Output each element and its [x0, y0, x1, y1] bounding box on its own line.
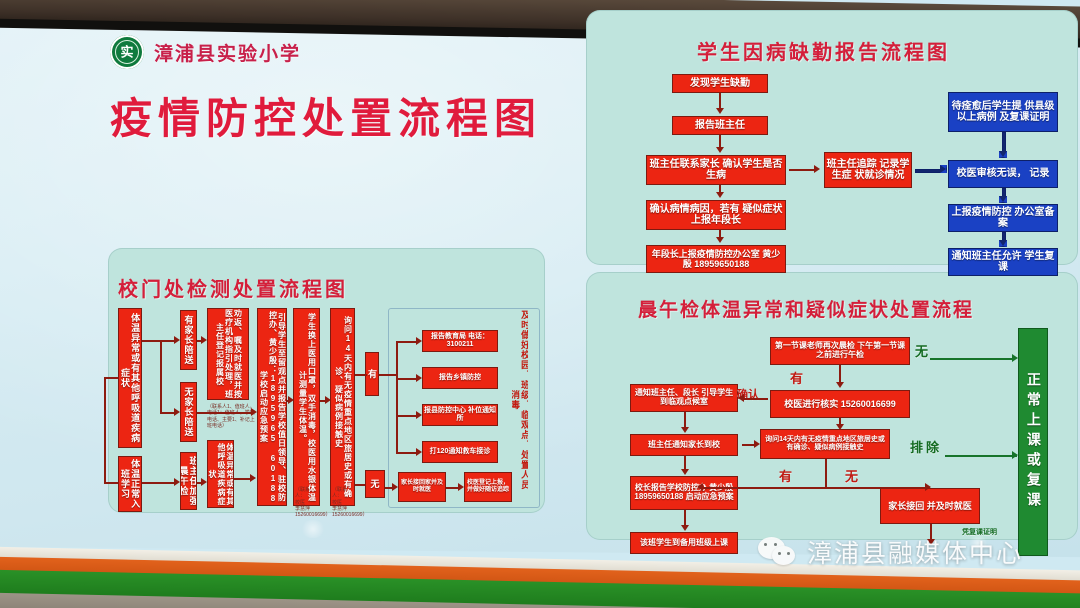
absence-box-report-teacher: 报告班主任	[672, 116, 768, 135]
gate-note-1: （联系人1、值班人。电话1：值班人。学校 电话、主要1、补记上班电话）	[207, 404, 255, 429]
gate-box-report-education-bureau: 报告教育局 电话：3100211	[422, 330, 498, 352]
morning-box-parent-pickup: 家长接回 并及时就医	[880, 488, 980, 524]
morning-box-principal-report: 校长报告学校防控办 黄少殷 18959650188 启动应急预案	[630, 476, 738, 510]
gate-box-disinfection: 及时做好校园、班级、临观点、处置人员消毒	[512, 310, 528, 490]
gate-box-ask-14-days: 询问14天内有无疫情重点地区旅居史或有确诊、疑似病例接触史	[330, 308, 355, 506]
absence-box-recovery-proof: 待痊愈后学生提 供县级以上病例 及复课证明	[948, 92, 1058, 132]
absence-box-report-office: 年段长上报疫情防控办公室 黄少殷 18959650188	[646, 245, 786, 273]
school-name: 漳浦县实验小学	[154, 39, 301, 66]
absence-chart-title: 学生因病缺勤报告流程图	[697, 36, 950, 65]
morning-label-has: 有	[790, 368, 803, 387]
gate-box-normal-temp-class: 体温正常入班学习	[118, 456, 142, 512]
absence-box-contact-parent: 班主任联系家长 确认学生是否生病	[646, 155, 786, 185]
absence-box-confirm-cause: 确认病情病因，若有 疑似症状上报年段长	[646, 200, 786, 230]
absence-box-doctor-verify: 校医审核无误， 记录	[948, 160, 1058, 188]
gate-chart-title: 校门处检测处置流程图	[118, 273, 348, 302]
gate-box-call-120: 打120通知救车接诊	[422, 441, 498, 463]
page-title: 疫情防控处置流程图	[110, 85, 570, 146]
gate-note-3: （联系人： 校医 李慧萍 15260016699）	[332, 487, 354, 518]
absence-box-file-record: 上报疫情防控 办公室备案	[948, 204, 1058, 232]
wechat-icon	[758, 537, 798, 567]
watermark: 漳浦县融媒体中心	[758, 534, 1023, 570]
gate-box-has-history: 有	[365, 352, 379, 396]
watermark-text: 漳浦县融媒体中心	[807, 534, 1023, 570]
morning-box-ask-14-days: 询问14天内有无疫情重点地区旅居史或有确诊、疑似病例接触史	[760, 429, 890, 459]
gate-box-abnormal-temp-2: 体温异常或有其他呼吸道疾病症状	[207, 440, 234, 508]
gate-box-with-parent: 有家长陪送	[180, 310, 197, 370]
gate-box-report-township: 报告乡镇防控	[422, 367, 498, 389]
gate-box-teacher-check: 班主任加强晨午检	[180, 452, 197, 510]
morning-box-parent-to-school: 班主任通知家长到校	[630, 434, 738, 456]
gate-box-parent-take-home: 家长接回家并及时就医	[398, 472, 446, 502]
school-emblem-icon: 实	[110, 35, 144, 69]
absence-box-track-symptoms: 班主任追踪 记录学生症 状就诊情况	[824, 152, 912, 188]
gate-box-no-history: 无	[365, 470, 385, 498]
morning-box-backup-class: 该班学生到备用班级上课	[630, 532, 738, 554]
morning-box-normal-class: 正常上课或复课	[1018, 328, 1048, 556]
gate-box-report-county-center: 报县防控中心 补位通知所	[422, 404, 498, 426]
gate-box-guide-observation: 引导学生至留观点并报告学校值日领导、驻校防控办、黄少殷：1895965 6018…	[257, 308, 287, 506]
morning-label-none-2: 无	[845, 466, 858, 485]
photo-scene: 实 漳浦县实验小学 疫情防控处置流程图 校门处检测处置流程图 学生因病缺勤报告流…	[0, 0, 1080, 608]
morning-label-none: 无	[915, 341, 928, 360]
gate-box-mask-and-temp: 学生换上医用口罩，双手消毒，校医用水银体温计测量学生体温。	[293, 308, 320, 506]
gate-box-record-followup: 校医登记上报，并做好随访追踪	[464, 472, 512, 502]
board-header: 实 漳浦县实验小学 疫情防控处置流程图	[110, 35, 570, 146]
morning-box-notify-teacher: 通知班主任、段长 引导学生到临观点候室	[630, 384, 738, 412]
morning-label-has-2: 有	[779, 466, 792, 485]
morning-chart-title: 晨午检体温异常和疑似症状处置流程	[638, 295, 974, 322]
morning-label-exclude: 排除	[910, 437, 942, 456]
gate-box-abnormal-temp: 体温异常或有其他呼吸道疾病症状	[118, 308, 142, 448]
school-identity: 实 漳浦县实验小学	[110, 35, 570, 69]
morning-box-doctor-verify: 校医进行核实 15260016699	[770, 390, 910, 418]
gate-note-2: （联系人： 校医 李慧萍 15260016699）	[295, 487, 317, 518]
absence-box-allow-return: 通知班主任允许 学生复课	[948, 248, 1058, 276]
gate-box-send-back: 劝返、嘱及时就医并按医疗机构指引处理，班主任登记报属校	[207, 308, 249, 400]
gate-box-without-parent: 无家长陪送	[180, 382, 197, 442]
absence-box-found-absent: 发现学生缺勤	[672, 74, 768, 93]
morning-box-recheck: 第一节课老师再次晨检 下午第一节课之前进行午检	[770, 337, 910, 365]
